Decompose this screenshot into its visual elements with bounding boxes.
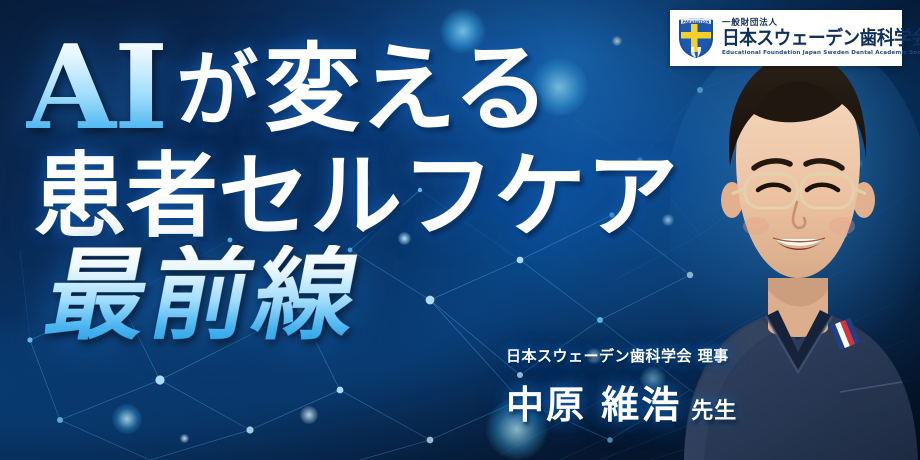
speaker-honorific: 先生 bbox=[691, 393, 737, 425]
speaker-affiliation: 日本スウェーデン歯科学会 理事 bbox=[506, 345, 737, 366]
headline-line-2: 患者セルフケア bbox=[34, 150, 726, 243]
headline-particle-ga: が bbox=[176, 42, 258, 138]
headline-line-3-text: 最前線 bbox=[38, 245, 369, 345]
shield-icon: PREVENTION bbox=[676, 16, 716, 60]
headline-line-2-text: 患者セルフケア bbox=[34, 142, 678, 250]
headline-line-1: AIが変える bbox=[26, 30, 726, 146]
logo-text-block: 一般財団法人 日本スウェーデン歯科学会 Educational Foundati… bbox=[722, 19, 920, 57]
logo-org-name: 日本スウェーデン歯科学会 bbox=[722, 29, 920, 48]
headline-ai-word: AI bbox=[26, 20, 166, 156]
speaker-name: 中原 維浩 bbox=[506, 374, 681, 429]
logo-org-name-en: Educational Foundation Japan Sweden Dent… bbox=[722, 51, 920, 57]
headline-line-1-rest: 変える bbox=[264, 32, 549, 145]
headline: AIが変える 患者セルフケア 最前線 bbox=[26, 30, 726, 345]
organization-logo[interactable]: PREVENTION 一般財団法人 日本スウェーデン歯科学会 Education… bbox=[670, 10, 902, 66]
seminar-banner: AIが変える 患者セルフケア 最前線 bbox=[0, 0, 920, 460]
headline-line-3: 最前線 bbox=[48, 245, 726, 345]
logo-org-type: 一般財団法人 bbox=[722, 19, 920, 28]
speaker-name-row: 中原 維浩 先生 bbox=[506, 374, 737, 429]
shield-banner-text: PREVENTION bbox=[683, 20, 710, 24]
speaker-caption: 日本スウェーデン歯科学会 理事 中原 維浩 先生 bbox=[506, 345, 737, 429]
